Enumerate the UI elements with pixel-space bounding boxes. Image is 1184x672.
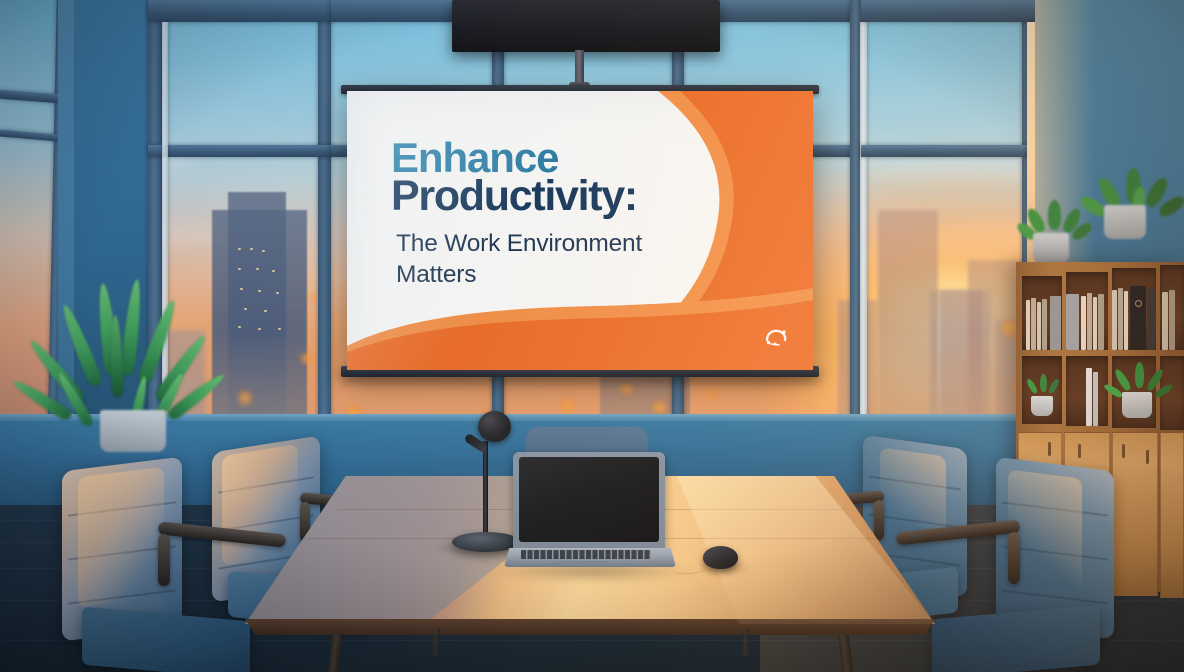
- screen-support-pole: [575, 50, 584, 86]
- window-mullion-horizontal: [148, 145, 332, 157]
- conference-room-scene: Enhance Productivity: The Work Environme…: [0, 0, 1184, 672]
- book: [1050, 296, 1061, 350]
- window-mullion-horizontal: [148, 0, 332, 22]
- book: [1066, 294, 1079, 350]
- slide-logo-icon: [764, 326, 790, 348]
- bokeh-light: [237, 390, 253, 406]
- bokeh-light: [620, 382, 633, 395]
- window-mullion-vertical: [318, 0, 331, 452]
- shelf-plant-pot: [1031, 396, 1053, 416]
- plant-pot: [100, 410, 166, 452]
- book: [1037, 302, 1041, 350]
- book: [1112, 290, 1117, 350]
- book: [1098, 294, 1104, 350]
- laptop-keyboard[interactable]: [521, 550, 651, 559]
- bokeh-light: [560, 398, 576, 414]
- book-emblem: [1135, 300, 1142, 307]
- microphone-stand-pole: [483, 441, 488, 538]
- book: [1162, 292, 1168, 350]
- ceiling-projector-housing: [452, 0, 720, 52]
- cabinet-door: [1112, 432, 1158, 596]
- bokeh-light: [705, 388, 717, 400]
- bokeh-light: [300, 352, 313, 365]
- table-leg: [432, 628, 440, 656]
- laptop-trackpad[interactable]: [558, 561, 608, 565]
- slide-text-block: Enhance Productivity: The Work Environme…: [391, 138, 726, 290]
- cabinet-handle[interactable]: [1048, 442, 1051, 456]
- cabinet-door: [1160, 432, 1184, 598]
- book: [1169, 290, 1175, 350]
- book: [1026, 300, 1030, 350]
- book: [1042, 299, 1047, 350]
- table-edge: [245, 619, 935, 635]
- slide-subtitle: The Work Environment Matters: [396, 229, 726, 290]
- book: [1031, 298, 1036, 350]
- shelf-top-pot: [1033, 233, 1069, 263]
- book: [1087, 293, 1092, 350]
- projection-screen[interactable]: Enhance Productivity: The Work Environme…: [347, 91, 813, 370]
- cabinet-handle[interactable]: [1078, 444, 1081, 458]
- slide-title-line2: Productivity:: [391, 175, 726, 218]
- cabinet-handle[interactable]: [1122, 444, 1125, 458]
- book: [1081, 296, 1086, 350]
- bokeh-light: [652, 400, 667, 415]
- book: [1118, 288, 1123, 350]
- book: [1124, 291, 1128, 350]
- book: [1093, 372, 1098, 426]
- slide-orange-shape-bottom: [347, 288, 813, 370]
- shelf-top-pot: [1104, 205, 1146, 239]
- book: [1130, 286, 1146, 350]
- book: [1093, 297, 1097, 350]
- shelf-plant-pot: [1122, 392, 1152, 418]
- cabinet-handle[interactable]: [1146, 450, 1149, 464]
- table-leg: [742, 628, 750, 656]
- microphone-head: [478, 411, 511, 442]
- chair-armrest-post: [1008, 532, 1020, 584]
- book: [1086, 368, 1092, 426]
- presentation-slide: Enhance Productivity: The Work Environme…: [347, 91, 813, 370]
- window-mullion-vertical: [860, 22, 867, 442]
- chair-armrest-post: [874, 500, 884, 540]
- laptop-screen[interactable]: [519, 457, 659, 542]
- book: [1147, 289, 1155, 350]
- computer-mouse[interactable]: [703, 546, 738, 569]
- chair-armrest-post: [158, 534, 170, 586]
